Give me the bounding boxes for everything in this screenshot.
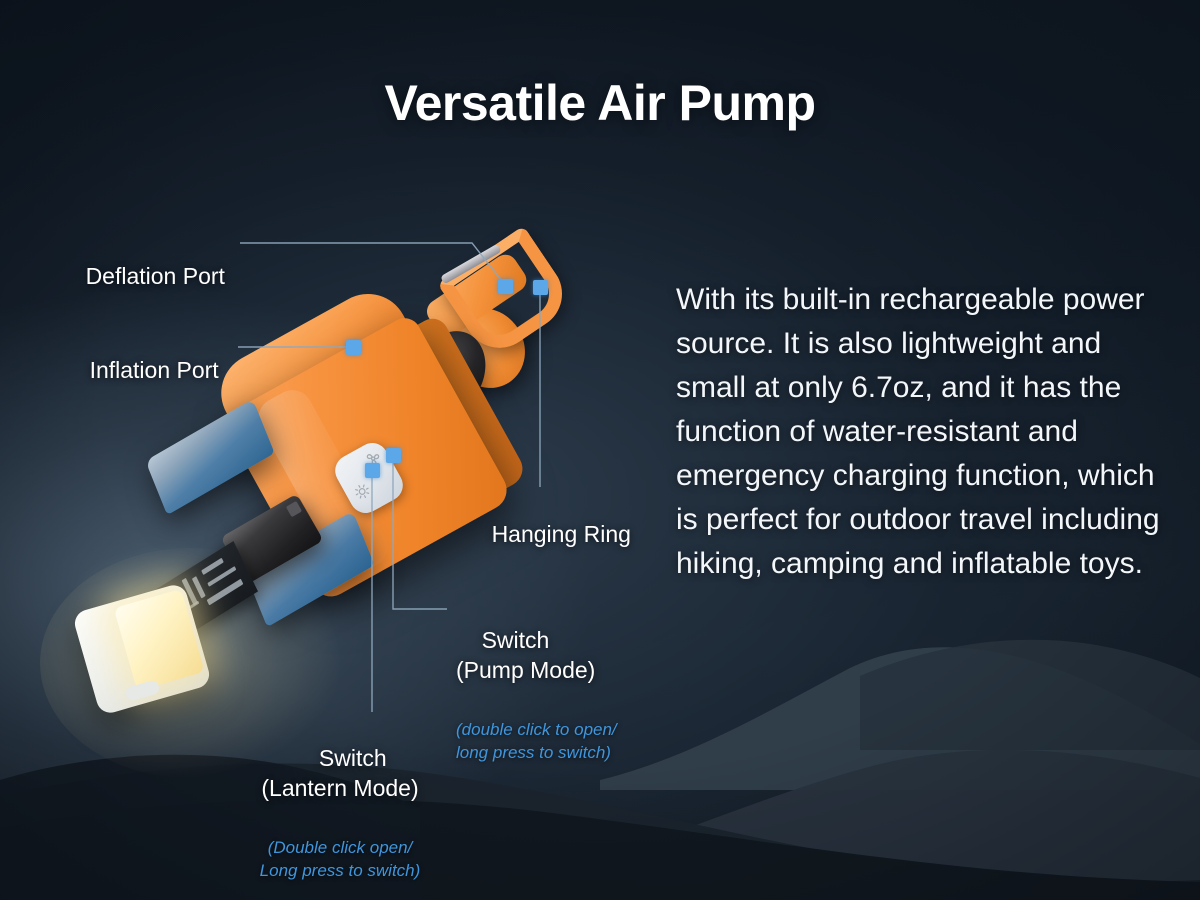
marker-switch-lantern bbox=[365, 463, 380, 478]
callout-hanging-ring: Hanging Ring bbox=[466, 489, 631, 579]
callout-switch-lantern-mode-label: Switch (Lantern Mode) bbox=[261, 745, 418, 801]
product-infographic: Versatile Air Pump bbox=[0, 0, 1200, 900]
marker-inflation-port bbox=[346, 340, 361, 355]
marker-switch-pump bbox=[386, 448, 401, 463]
callout-deflation-port-label: Deflation Port bbox=[86, 263, 225, 289]
sun-icon bbox=[351, 480, 377, 507]
callout-switch-lantern-mode: Switch (Lantern Mode) (Double click open… bbox=[195, 713, 485, 900]
lantern-tab bbox=[124, 679, 161, 702]
page-title: Versatile Air Pump bbox=[0, 74, 1200, 132]
callout-hanging-ring-label: Hanging Ring bbox=[492, 521, 631, 547]
callout-inflation-port-label: Inflation Port bbox=[90, 357, 219, 383]
callout-deflation-port: Deflation Port bbox=[60, 231, 225, 321]
callout-inflation-port: Inflation Port bbox=[64, 325, 219, 415]
marker-deflation-port bbox=[498, 279, 513, 294]
callout-switch-pump-mode-label: Switch (Pump Mode) bbox=[456, 627, 595, 683]
marker-hanging-ring bbox=[533, 280, 548, 295]
description-paragraph: With its built-in rechargeable power sou… bbox=[676, 278, 1166, 586]
callout-switch-lantern-mode-sub: (Double click open/ Long press to switch… bbox=[195, 836, 485, 882]
